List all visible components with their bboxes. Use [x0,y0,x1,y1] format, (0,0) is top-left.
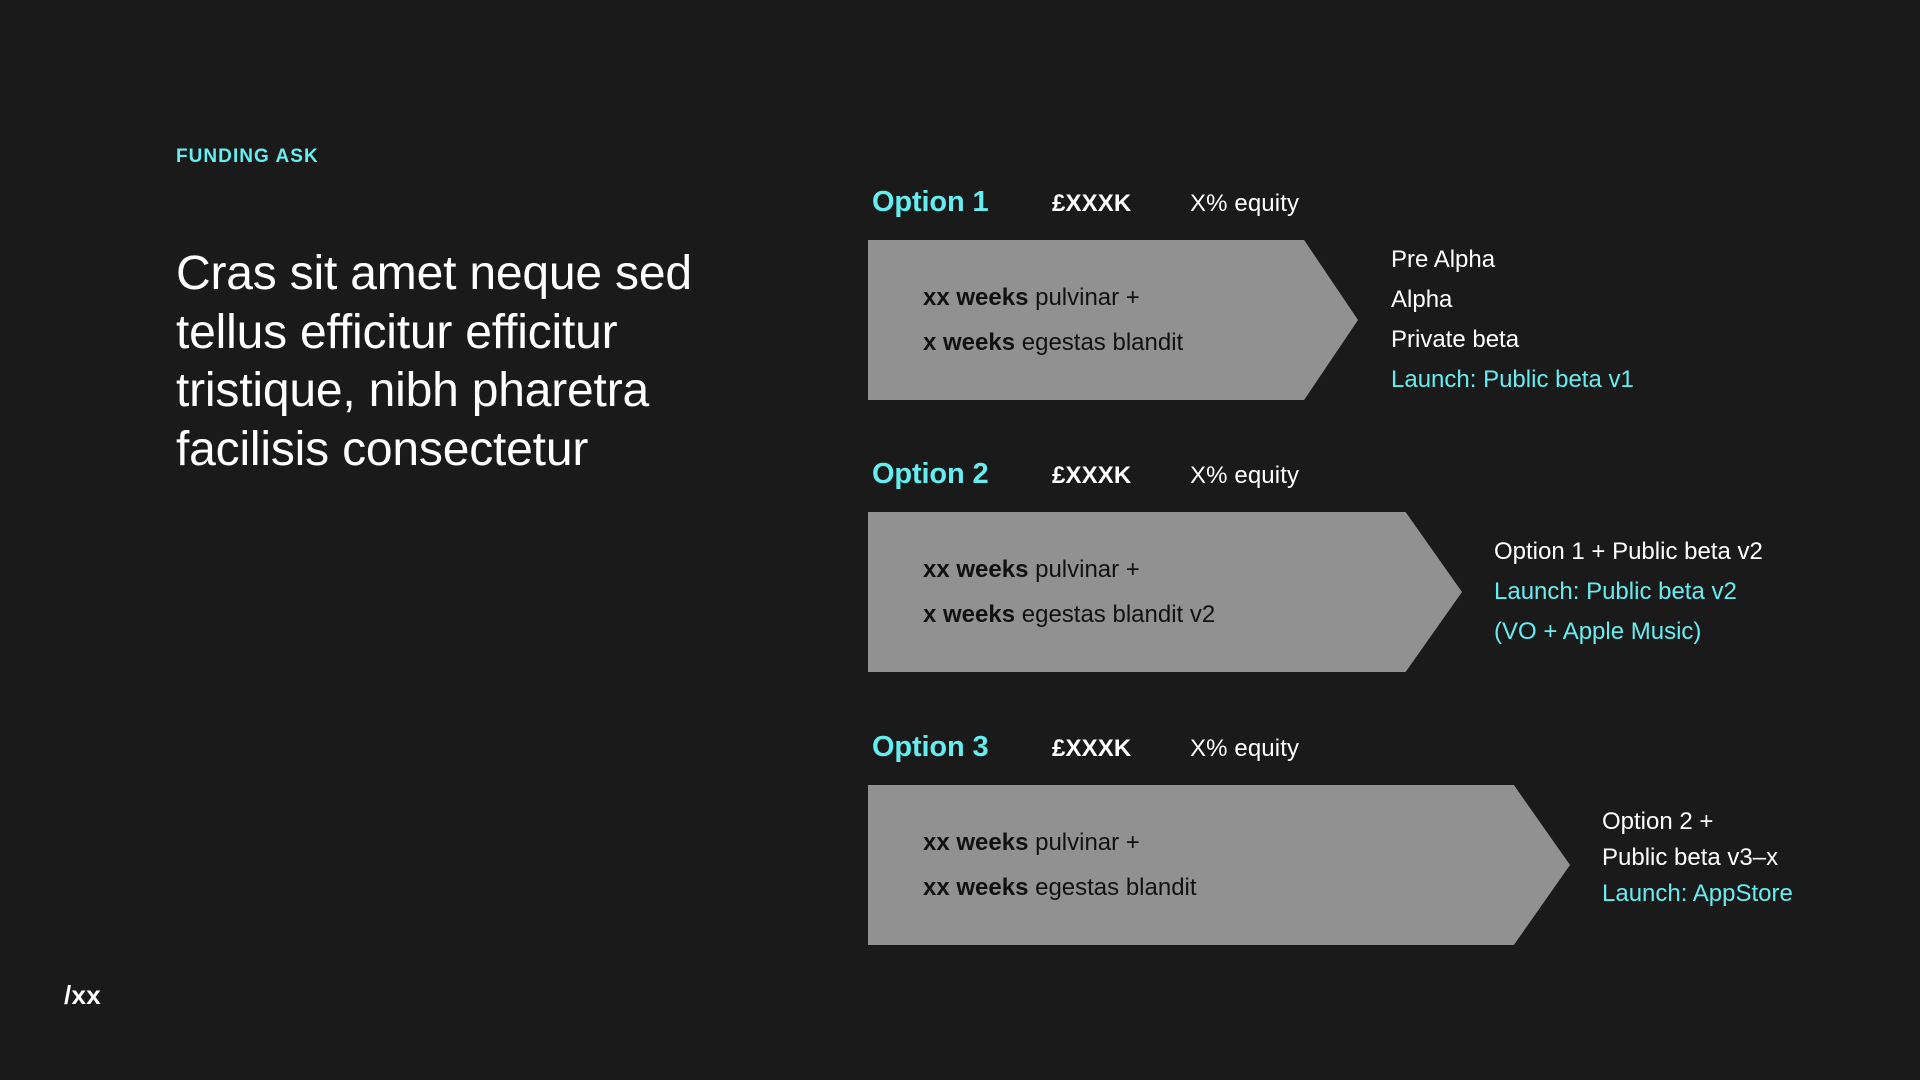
option-2-timeline-line-2: x weeks egestas blandit v2 [923,592,1215,637]
option-1-equity: X% equity [1190,190,1299,218]
option-2-timeline-arrow: xx weeks pulvinar + x weeks egestas blan… [868,512,1462,672]
option-1-timeline-line-1-rest: pulvinar + [1028,284,1139,311]
option-3-milestones: Option 2 + Public beta v3–x Launch: AppS… [1602,804,1793,912]
option-2-amount: £XXXK [1052,462,1131,490]
page-number: /xx [64,980,101,1011]
option-2-timeline-lines: xx weeks pulvinar + x weeks egestas blan… [923,547,1215,637]
option-2-timeline-line-2-rest: egestas blandit v2 [1015,601,1215,628]
option-1-timeline-line-2-bold: x weeks [923,329,1015,356]
option-1-milestone-1: Pre Alpha [1391,240,1634,280]
option-3-milestone-2: Public beta v3–x [1602,840,1793,876]
option-1-timeline-lines: xx weeks pulvinar + x weeks egestas blan… [923,275,1183,365]
option-3-amount: £XXXK [1052,735,1131,763]
option-3-milestone-3: Launch: AppStore [1602,876,1793,912]
option-2-milestone-2: Launch: Public beta v2 [1494,572,1763,612]
option-3-timeline-line-1: xx weeks pulvinar + [923,820,1197,865]
option-3-equity: X% equity [1190,735,1299,763]
option-1-amount: £XXXK [1052,190,1131,218]
option-3-milestone-1: Option 2 + [1602,804,1793,840]
option-3-timeline-line-2-bold: xx weeks [923,874,1028,901]
option-1-milestones: Pre Alpha Alpha Private beta Launch: Pub… [1391,240,1634,400]
option-2-milestone-3: (VO + Apple Music) [1494,612,1763,652]
option-3-timeline-lines: xx weeks pulvinar + xx weeks egestas bla… [923,820,1197,910]
page-title: Cras sit amet neque sed tellus efficitur… [176,245,796,479]
option-3-timeline-line-1-bold: xx weeks [923,829,1028,856]
option-1-milestone-4: Launch: Public beta v1 [1391,360,1634,400]
option-3-timeline-line-1-rest: pulvinar + [1028,829,1139,856]
option-2-milestone-1: Option 1 + Public beta v2 [1494,532,1763,572]
option-2-timeline-line-1-bold: xx weeks [923,556,1028,583]
option-3-timeline-line-2-rest: egestas blandit [1028,874,1196,901]
section-eyebrow: FUNDING ASK [176,146,319,168]
option-1-milestone-2: Alpha [1391,280,1634,320]
option-1-name: Option 1 [872,186,988,219]
option-3-timeline-arrow: xx weeks pulvinar + xx weeks egestas bla… [868,785,1570,945]
option-1-timeline-arrow: xx weeks pulvinar + x weeks egestas blan… [868,240,1358,400]
option-2-timeline-line-1: xx weeks pulvinar + [923,547,1215,592]
option-2-name: Option 2 [872,458,988,491]
option-1-milestone-3: Private beta [1391,320,1634,360]
option-2-milestones: Option 1 + Public beta v2 Launch: Public… [1494,532,1763,652]
option-2-timeline-line-2-bold: x weeks [923,601,1015,628]
option-1-timeline-line-2: x weeks egestas blandit [923,320,1183,365]
option-1-timeline-line-2-rest: egestas blandit [1015,329,1183,356]
slide-funding-ask: FUNDING ASK Cras sit amet neque sed tell… [0,0,1920,1080]
option-3-timeline-line-2: xx weeks egestas blandit [923,865,1197,910]
option-2-timeline-line-1-rest: pulvinar + [1028,556,1139,583]
option-3-name: Option 3 [872,731,988,764]
option-2-equity: X% equity [1190,462,1299,490]
option-1-timeline-line-1-bold: xx weeks [923,284,1028,311]
option-1-timeline-line-1: xx weeks pulvinar + [923,275,1183,320]
